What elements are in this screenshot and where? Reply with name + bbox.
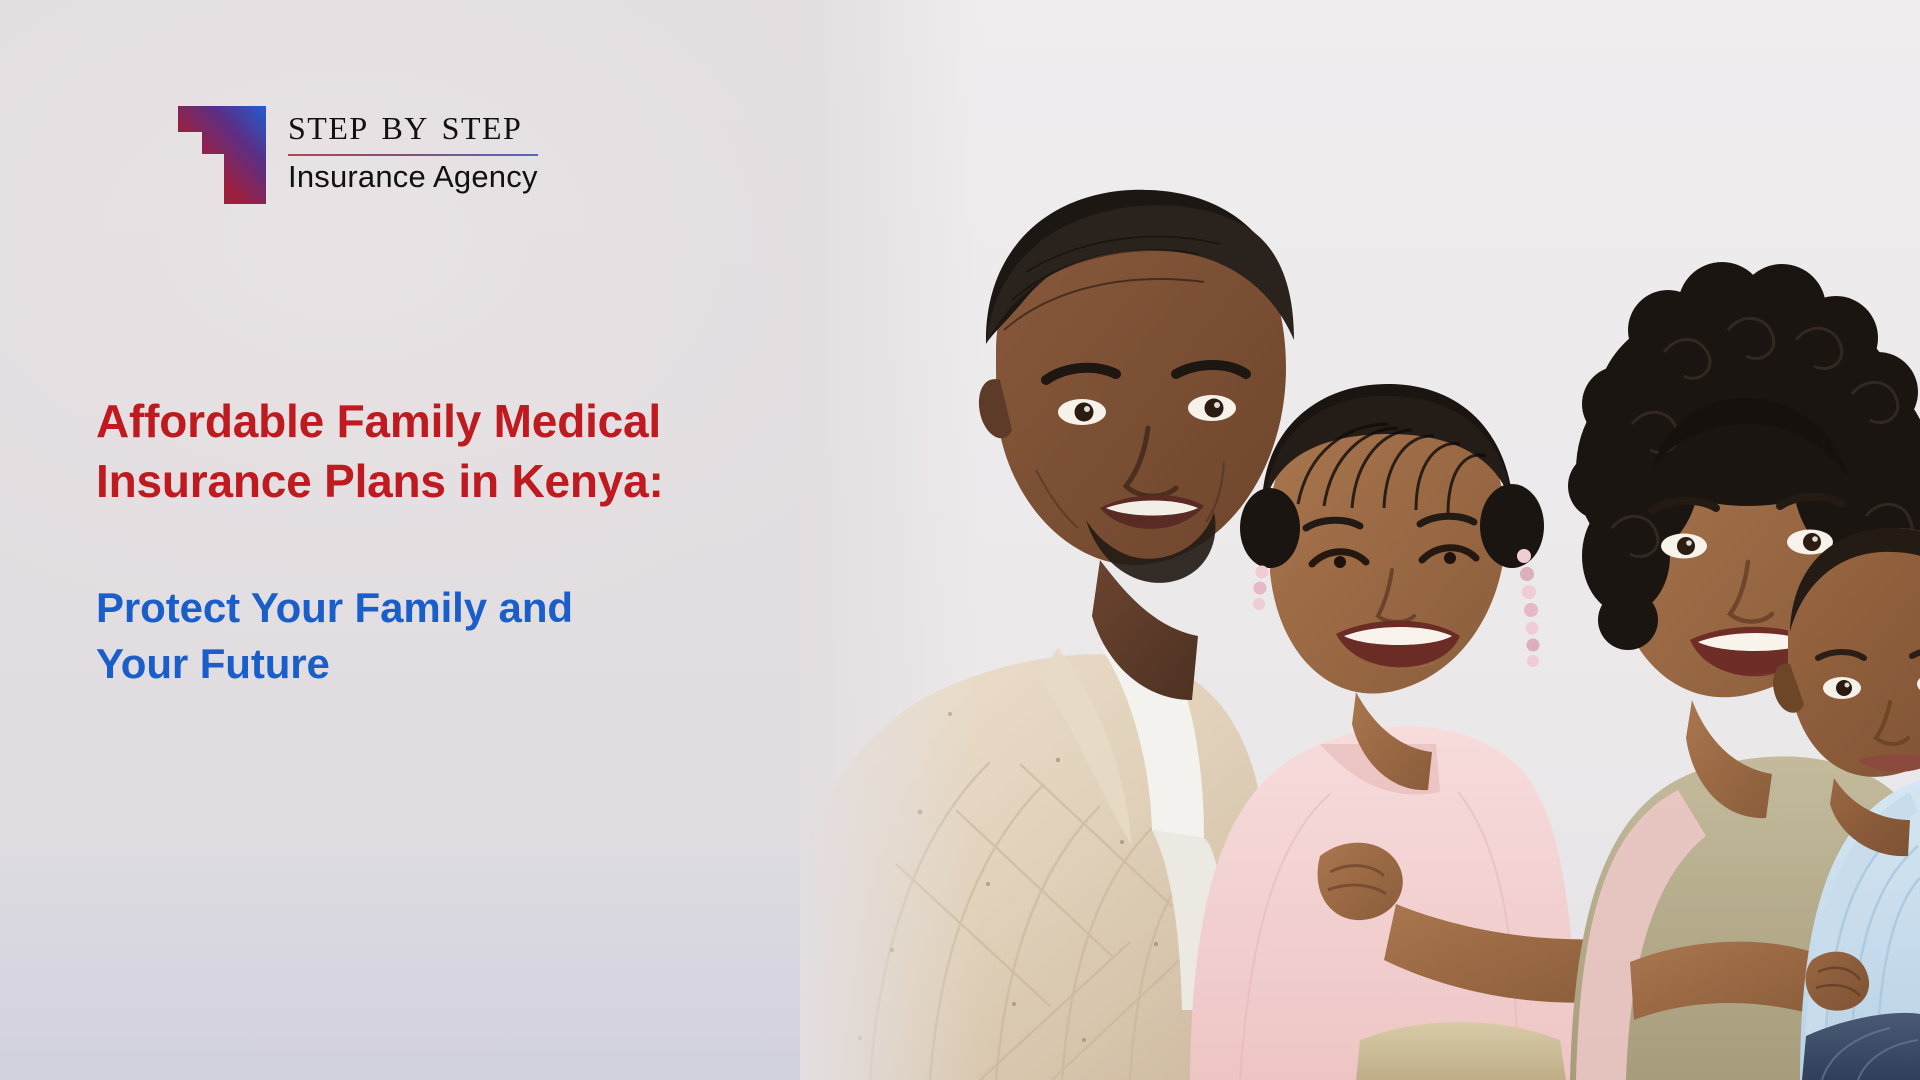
brand-name-primary: Step By Step <box>288 102 538 147</box>
step-staircase-mark-icon <box>178 98 266 204</box>
subhead-line-2: Your Future <box>96 636 816 692</box>
family-photo-illustration <box>800 0 1920 1080</box>
headline-line-2: Insurance Plans in Kenya: <box>96 452 816 512</box>
brand-divider-rule <box>288 154 538 156</box>
page-subtitle: Protect Your Family and Your Future <box>96 580 816 693</box>
page-title: Affordable Family Medical Insurance Plan… <box>96 392 816 512</box>
subhead-line-1: Protect Your Family and <box>96 580 816 636</box>
brand-name-secondary: Insurance Agency <box>288 160 538 193</box>
hero-copy: Affordable Family Medical Insurance Plan… <box>96 392 816 692</box>
hero-banner: Step By Step Insurance Agency Affordable… <box>0 0 1920 1080</box>
headline-line-1: Affordable Family Medical <box>96 392 816 452</box>
brand-logo[interactable]: Step By Step Insurance Agency <box>178 98 538 204</box>
brand-wordmark: Step By Step Insurance Agency <box>288 98 538 193</box>
family-photo <box>800 0 1920 1080</box>
